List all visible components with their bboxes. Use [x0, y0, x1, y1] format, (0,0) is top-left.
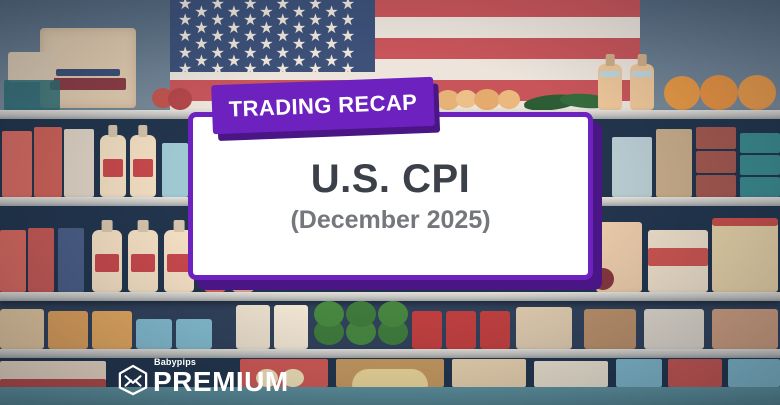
flag-star: ★ — [194, 37, 208, 53]
shelf-board-3 — [0, 292, 780, 301]
promo-graphic: ★★★★★★★★★★★★★★★★★★★★★★★★★★★★★★★★★★★★★★★★… — [0, 0, 780, 405]
store-counter-edge — [0, 387, 780, 405]
flag-star: ★ — [259, 37, 273, 53]
flag-star: ★ — [341, 46, 355, 62]
flag-star: ★ — [292, 5, 306, 21]
flag-star: ★ — [211, 29, 225, 45]
flag-star: ★ — [178, 46, 192, 62]
card-title: U.S. CPI — [311, 158, 471, 200]
flag-star: ★ — [243, 46, 257, 62]
flag-star: ★ — [292, 37, 306, 53]
hexagon-envelope-icon — [118, 364, 148, 396]
flag-star: ★ — [308, 29, 322, 45]
flag-star: ★ — [243, 29, 257, 45]
flag-star: ★ — [211, 0, 225, 13]
flag-star: ★ — [259, 5, 273, 21]
flag-star: ★ — [211, 46, 225, 62]
babypips-premium-logo: Babypips PREMIUM — [118, 358, 289, 396]
shelf-board-4 — [0, 349, 780, 358]
logo-text-group: Babypips PREMIUM — [153, 358, 289, 396]
flag-star: ★ — [276, 13, 290, 29]
flag-star: ★ — [324, 5, 338, 21]
flag-star: ★ — [341, 13, 355, 29]
flag-star: ★ — [308, 0, 322, 13]
badge-body: TRADING RECAP — [211, 77, 435, 134]
flag-star: ★ — [259, 21, 273, 37]
flag-star: ★ — [276, 0, 290, 13]
flag-star: ★ — [227, 37, 241, 53]
flag-star: ★ — [324, 21, 338, 37]
flag-star: ★ — [243, 0, 257, 13]
flag-star: ★ — [276, 46, 290, 62]
flag-star: ★ — [308, 46, 322, 62]
badge-label: TRADING RECAP — [228, 89, 417, 122]
flag-star: ★ — [341, 0, 355, 13]
flag-star: ★ — [276, 29, 290, 45]
flag-star: ★ — [194, 5, 208, 21]
flag-star: ★ — [211, 13, 225, 29]
shelf-4-products — [0, 301, 780, 349]
flag-star: ★ — [178, 13, 192, 29]
flag-star: ★ — [324, 37, 338, 53]
flag-star: ★ — [243, 13, 257, 29]
flag-star: ★ — [341, 29, 355, 45]
flag-star: ★ — [227, 21, 241, 37]
flag-star: ★ — [178, 0, 192, 13]
card-subtitle: (December 2025) — [290, 206, 490, 235]
flag-star: ★ — [308, 13, 322, 29]
flag-star: ★ — [292, 21, 306, 37]
flag-star: ★ — [194, 21, 208, 37]
trading-recap-badge: TRADING RECAP — [211, 77, 435, 134]
logo-product: PREMIUM — [153, 368, 289, 396]
flag-star: ★ — [227, 5, 241, 21]
flag-star: ★ — [178, 29, 192, 45]
